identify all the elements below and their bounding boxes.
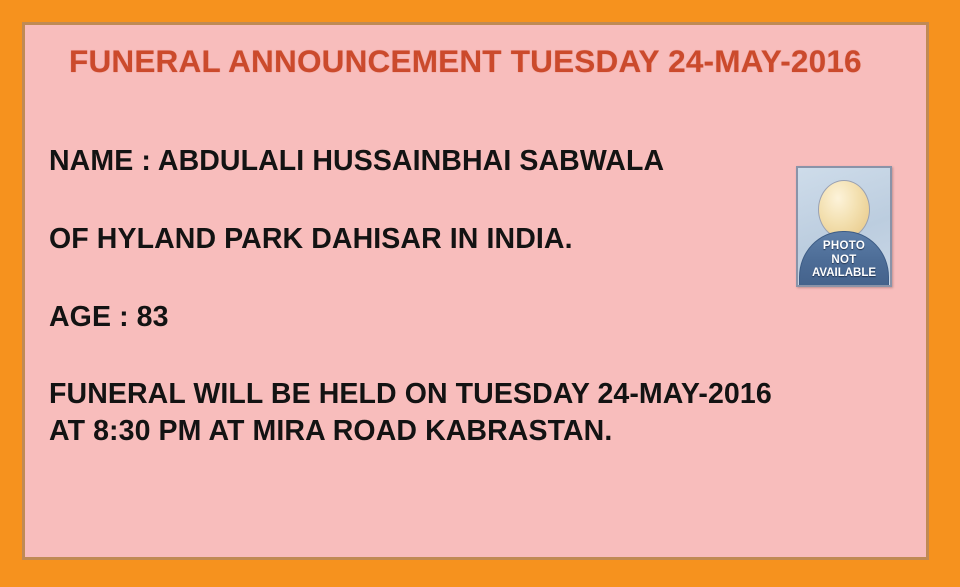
spacer [49, 258, 909, 299]
funeral-details-line-2: AT 8:30 PM AT MIRA ROAD KABRASTAN. [49, 413, 909, 450]
address-line: OF HYLAND PARK DAHISAR IN INDIA. [49, 221, 909, 258]
announcement-card: FUNERAL ANNOUNCEMENT TUESDAY 24-MAY-2016… [25, 25, 926, 557]
card-bevel: FUNERAL ANNOUNCEMENT TUESDAY 24-MAY-2016… [22, 22, 929, 560]
page-title: FUNERAL ANNOUNCEMENT TUESDAY 24-MAY-2016 [69, 37, 909, 85]
photo-placeholder-caption: PHOTO NOT AVAILABLE [798, 240, 890, 281]
funeral-announcement-poster: FUNERAL ANNOUNCEMENT TUESDAY 24-MAY-2016… [0, 0, 960, 587]
spacer [49, 180, 909, 221]
announcement-body: NAME : ABDULALI HUSSAINBHAI SABWALA OF H… [49, 143, 909, 450]
funeral-details-line-1: FUNERAL WILL BE HELD ON TUESDAY 24-MAY-2… [49, 376, 909, 413]
spacer [49, 336, 909, 376]
photo-not-available-placeholder: PHOTO NOT AVAILABLE [796, 166, 892, 287]
photo-caption-line-1: PHOTO [798, 240, 890, 254]
photo-caption-line-2: NOT [798, 254, 890, 268]
deceased-name-line: NAME : ABDULALI HUSSAINBHAI SABWALA [49, 143, 909, 180]
photo-caption-line-3: AVAILABLE [798, 267, 890, 281]
age-line: AGE : 83 [49, 299, 909, 336]
